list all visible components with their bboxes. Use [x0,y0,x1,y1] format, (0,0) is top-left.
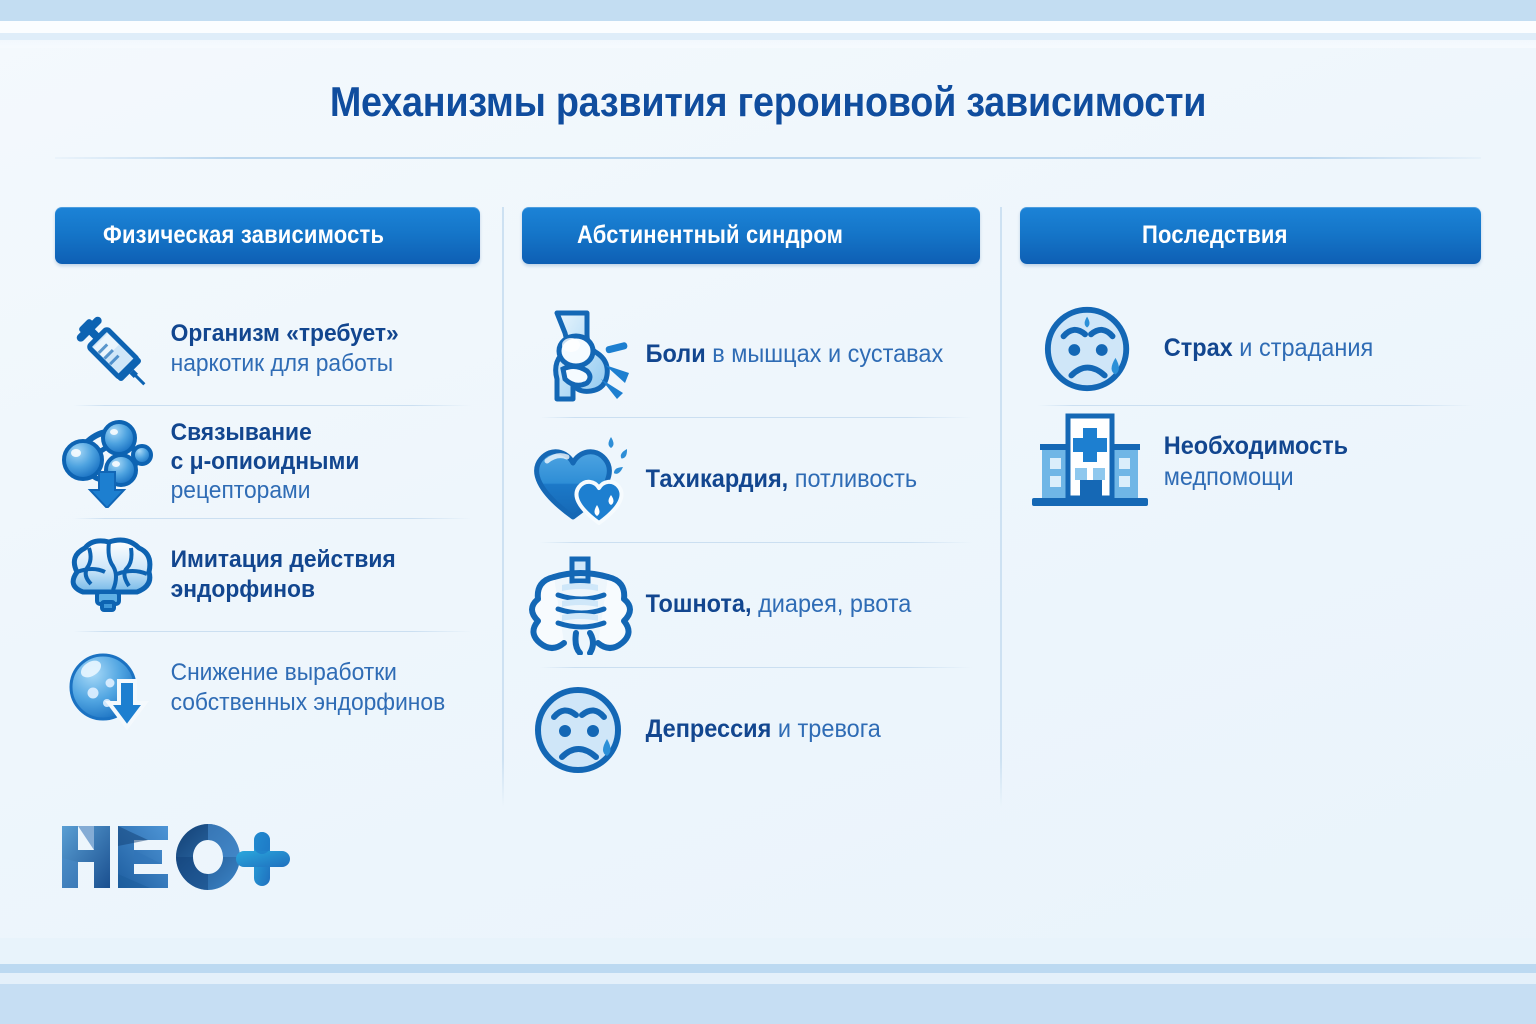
list-item[interactable]: Имитация действия эндорфинов [55,518,480,631]
list-item[interactable]: Боли в мышцах и суставах [522,292,980,417]
hospital-icon [1020,412,1160,512]
bottom-band-line [0,964,1536,973]
list-item[interactable]: Депрессия и тревога [522,667,980,792]
list-item-bold: Имитация действия [171,546,396,573]
column-withdrawal-syndrome: Абстинентный синдром [522,207,980,792]
list-item[interactable]: Тахикардия, потливость [522,417,980,542]
list-item-rest: диарея, рвота [758,590,911,618]
list-item-text: Имитация действия эндорфинов [163,545,396,604]
list-item-text: Тошнота, диарея, рвота [640,589,911,620]
column-header-label: Физическая зависимость [103,221,384,250]
list-item-rest: рецепторами [171,477,311,504]
sad-face-icon [1020,299,1160,399]
column-header-label: Абстинентный синдром [577,221,843,250]
logo-neo-plus-icon [60,818,300,896]
column-physical-dependence: Физическая зависимость [55,207,480,744]
list-item[interactable]: Страх и страдания [1020,292,1481,405]
list-item-text: Страх и страдания [1160,333,1373,364]
list-item[interactable]: Связывание с μ-опиоидными рецепторами [55,405,480,518]
list-item-text: Связывание с μ-опиоидными рецепторами [163,418,359,506]
top-band-white [0,21,1536,33]
list-item-bold: Страх [1164,334,1233,362]
syringe-icon [55,301,163,397]
intestine-icon [522,553,640,657]
heart-icon [522,428,640,532]
sad-face-icon [522,678,640,782]
list-item-bold: Депрессия [646,715,772,743]
list-item-rest: медпомощи [1164,463,1294,491]
list-item-bold: Тошнота, [646,590,752,618]
list-item-text: Организм «требует» наркотик для работы [163,319,399,378]
column-items: Организм «требует» наркотик для работы [55,292,480,744]
list-item-rest: в мышцах и суставах [712,340,943,368]
column-items: Страх и страдания [1020,292,1481,518]
list-item-bold: Снижение выработки [171,659,397,686]
list-item-bold: Необходимость [1164,432,1348,460]
column-items: Боли в мышцах и суставах [522,292,980,792]
list-item[interactable]: Необходимость медпомощи [1020,405,1481,518]
title-divider [55,157,1481,159]
column-header-consequences: Последствия [1020,207,1481,264]
columns-container: Физическая зависимость [0,207,1536,827]
joint-pain-icon [522,303,640,407]
brain-icon [55,527,163,623]
list-item[interactable]: Тошнота, диарея, рвота [522,542,980,667]
column-header-withdrawal: Абстинентный синдром [522,207,980,264]
column-header-label: Последствия [1142,221,1288,250]
top-band-fade [0,40,1536,48]
list-item-text: Необходимость медпомощи [1160,431,1348,492]
list-item-rest: и страдания [1239,334,1373,362]
logo[interactable] [60,818,300,896]
list-item-rest: эндорфинов [171,576,315,603]
list-item-rest: потливость [795,465,917,493]
list-item-rest: наркотик для работы [171,350,394,377]
bottom-band-outer [0,984,1536,1024]
list-item-text: Тахикардия, потливость [640,464,917,495]
page-title: Механизмы развития героиновой зависимост… [77,78,1459,126]
list-item-bold: Тахикардия, [646,465,789,493]
list-item-bold: Боли [646,340,706,368]
list-item-text: Депрессия и тревога [640,714,881,745]
column-consequences: Последствия Страх [1020,207,1481,518]
molecule-icon [55,414,163,510]
top-band-line [0,33,1536,40]
bottom-band-fade [0,938,1536,964]
list-item-rest: и тревога [778,715,881,743]
top-band-outer [0,0,1536,21]
list-item[interactable]: Снижение выработки собственных эндорфино… [55,631,480,744]
list-item-text: Боли в мышцах и суставах [640,339,943,370]
list-item-mid: с μ-опиоидными [171,448,360,475]
list-item-text: Снижение выработки собственных эндорфино… [163,658,445,717]
column-header-physical: Физическая зависимость [55,207,480,264]
list-item-rest: собственных эндорфинов [171,689,446,716]
bottom-band-white [0,973,1536,984]
cell-decrease-icon [55,640,163,736]
list-item-bold: Связывание [171,419,312,446]
list-item[interactable]: Организм «требует» наркотик для работы [55,292,480,405]
list-item-bold: Организм «требует» [171,320,399,347]
